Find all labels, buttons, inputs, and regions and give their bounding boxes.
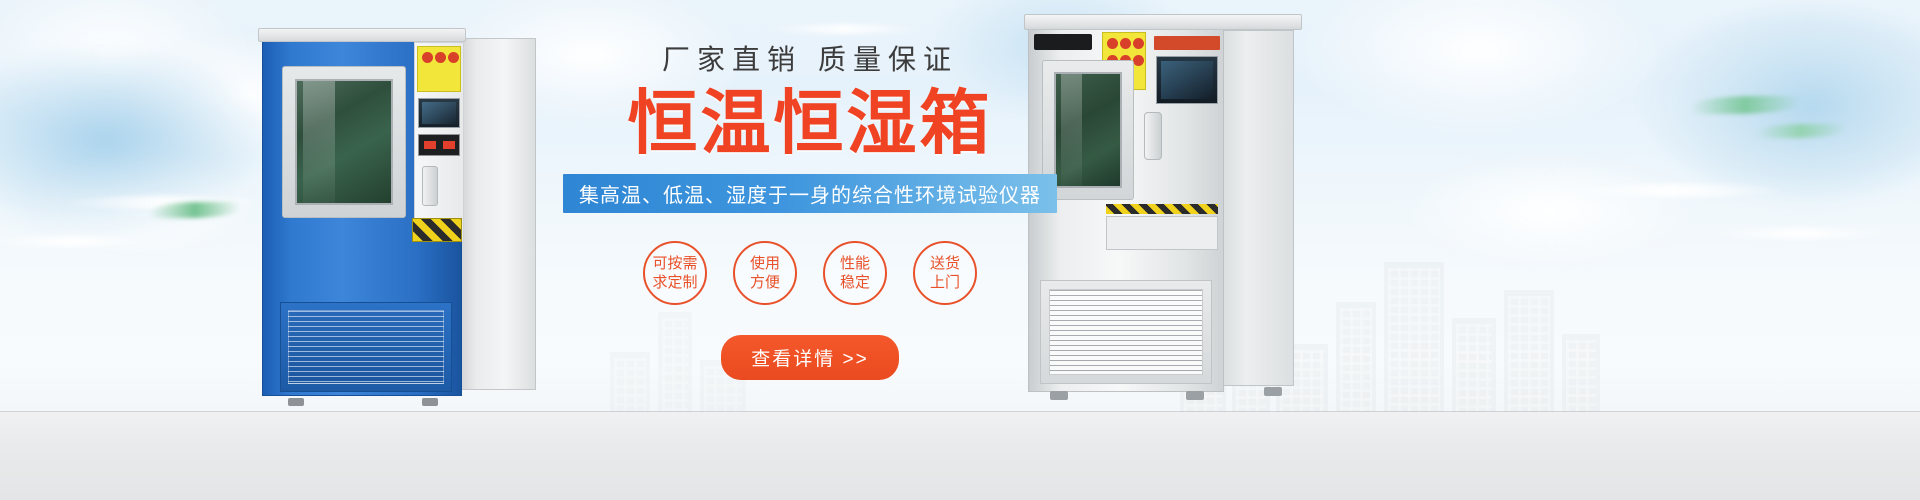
chamber-left-led-readout [418,134,460,156]
building-shape [1504,290,1554,422]
promo-banner: 厂家直销 质量保证 恒温恒湿箱 集高温、低温、湿度于一身的综合性环境试验仪器 可… [0,0,1920,500]
badge-line-2: 求定制 [652,273,697,292]
building-shape [1384,262,1444,422]
badge-line-2: 方便 [750,273,780,292]
chamber-right-foot [1050,391,1068,400]
chamber-right-door-handle [1144,112,1162,160]
chamber-right-vent-grille [1049,289,1203,375]
feature-badge-stable[interactable]: 性能 稳定 [823,241,887,305]
feature-badge-easy-use[interactable]: 使用 方便 [733,241,797,305]
banner-subtitle: 集高温、低温、湿度于一身的综合性环境试验仪器 [563,174,1057,213]
building-shape [1562,334,1600,422]
feature-badge-custom[interactable]: 可按需 求定制 [643,241,707,305]
view-details-button[interactable]: 查看详情 >> [721,335,898,380]
badge-line-1: 送货 [930,254,960,273]
chamber-left-side-panel [458,38,536,390]
chamber-right-foot [1186,391,1204,400]
badge-line-2: 上门 [930,273,960,292]
cloud-wisp [760,24,930,34]
badge-line-2: 稳定 [840,273,870,292]
chamber-left-door-handle [422,166,438,206]
chamber-left-vent-grille [288,310,444,384]
chamber-left-foot [422,398,438,406]
badge-line-1: 可按需 [652,254,697,273]
cloud-shape [1290,0,1670,140]
badge-line-1: 性能 [840,254,870,273]
chamber-right-hazard-stripe [1106,204,1218,214]
feature-badge-list: 可按需 求定制 使用 方便 性能 稳定 送货 上门 [560,241,1060,305]
chamber-left-foot [288,398,304,406]
chamber-right-viewing-window [1054,72,1122,188]
chamber-left-display-screen [418,98,460,128]
chamber-left-viewing-window [295,79,393,205]
badge-line-1: 使用 [750,254,780,273]
banner-tagline: 厂家直销 质量保证 [560,46,1060,74]
chamber-right-side-panel [1214,30,1294,386]
banner-headline: 恒温恒湿箱 [560,88,1060,158]
chamber-left-door [282,66,406,218]
building-shape [1452,318,1496,422]
chamber-right-spec-plate [1106,216,1218,250]
chamber-right-foot [1264,387,1282,396]
chamber-right-brand-text [1154,36,1220,50]
cta-container: 查看详情 >> [560,335,1060,380]
chamber-right-display-screen [1156,56,1218,104]
chamber-left-warning-labels [417,46,461,92]
ground-band [0,412,1920,500]
chamber-right-top-cap [1024,14,1302,30]
chamber-right-lower-vent-panel [1040,280,1212,384]
chamber-left-lower-vent-panel [280,302,452,392]
chamber-left-top-cap [258,28,466,42]
chamber-left-hazard-stripe [412,218,462,242]
building-shape [1336,302,1376,422]
product-image-left-chamber [262,28,532,400]
banner-content: 厂家直销 质量保证 恒温恒湿箱 集高温、低温、湿度于一身的综合性环境试验仪器 可… [560,46,1060,380]
product-image-right-chamber [1028,8,1296,400]
feature-badge-delivery[interactable]: 送货 上门 [913,241,977,305]
cloud-wisp [1560,184,1790,197]
